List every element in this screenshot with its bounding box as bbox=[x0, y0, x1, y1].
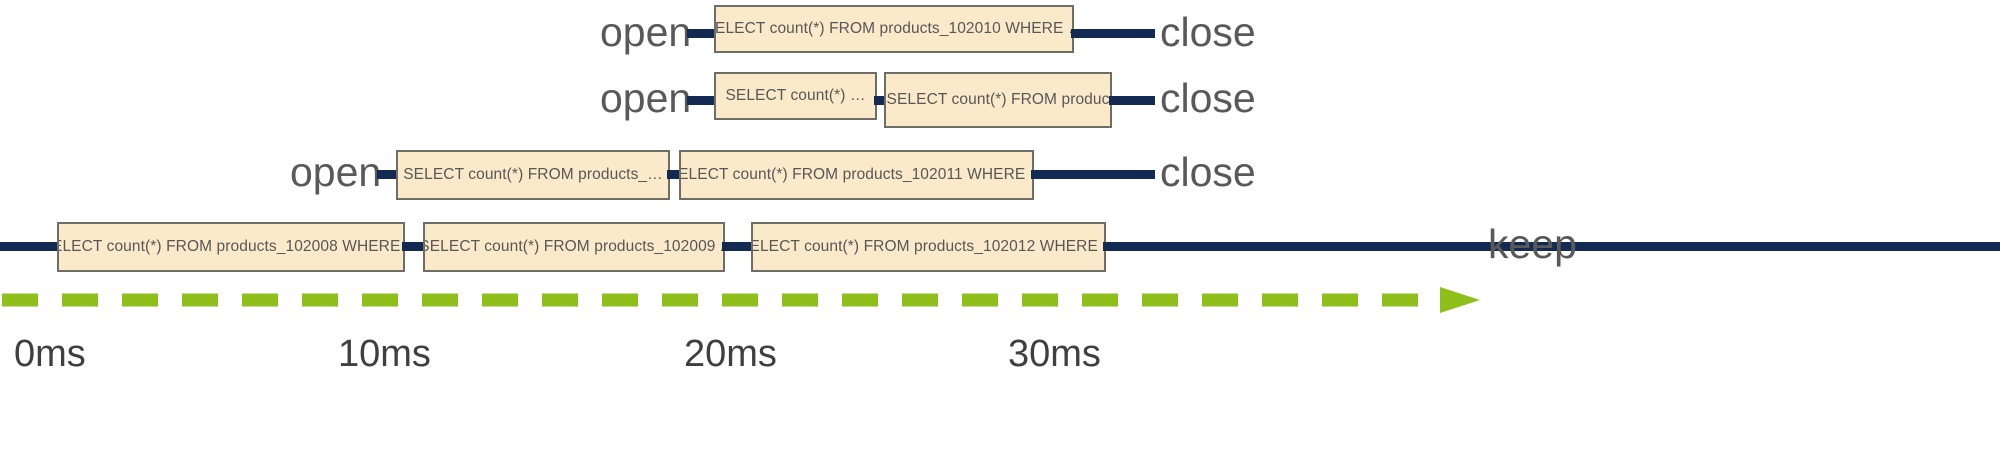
row-3-connector-end bbox=[1031, 170, 1155, 179]
axis-tick-3: 30ms bbox=[1008, 335, 1101, 373]
row-4-query-box-1[interactable]: SELECT count(*) FROM products_102008 WHE… bbox=[57, 222, 405, 272]
row-2-close-label: close bbox=[1160, 78, 1256, 119]
row-2-open-label: open bbox=[600, 78, 691, 119]
timeline-diagram: open SELECT count(*) FROM products_10201… bbox=[0, 0, 2000, 476]
row-2-connector-start bbox=[687, 96, 717, 105]
row-3-query-box-2[interactable]: SELECT count(*) FROM products_102011 WHE… bbox=[679, 150, 1034, 200]
row-3-query-box-1[interactable]: SELECT count(*) FROM products_… bbox=[396, 150, 670, 200]
row-2-query-text-1: SELECT count(*) … bbox=[725, 87, 865, 105]
row-1-open-label: open bbox=[600, 12, 691, 53]
row-2-query-box-1[interactable]: SELECT count(*) … bbox=[714, 72, 877, 120]
row-2-query-box-2[interactable]: SELECT count(*) FROM produc bbox=[884, 72, 1112, 128]
row-3-open-label: open bbox=[290, 152, 381, 193]
row-4-query-text-1: SELECT count(*) FROM products_102008 WHE… bbox=[57, 238, 405, 256]
row-4-query-text-3: SELECT count(*) FROM products_102012 WHE… bbox=[751, 238, 1106, 256]
row-3-close-label: close bbox=[1160, 152, 1256, 193]
row-3-query-text-2: SELECT count(*) FROM products_102011 WHE… bbox=[679, 166, 1034, 184]
row-4-query-text-2: SELECT count(*) FROM products_102009 .. bbox=[423, 238, 725, 256]
row-2-connector-end bbox=[1109, 96, 1155, 105]
row-3-query-text-1: SELECT count(*) FROM products_… bbox=[403, 166, 663, 184]
time-axis-arrow bbox=[0, 286, 2000, 314]
axis-tick-2: 20ms bbox=[684, 335, 777, 373]
row-2-query-text-2: SELECT count(*) FROM produc bbox=[887, 91, 1110, 109]
row-1-close-label: close bbox=[1160, 12, 1256, 53]
row-4-connector-start bbox=[0, 242, 60, 251]
row-4-query-box-3[interactable]: SELECT count(*) FROM products_102012 WHE… bbox=[751, 222, 1106, 272]
row-1-connector-end bbox=[1071, 29, 1155, 38]
row-1-query-box-1[interactable]: SELECT count(*) FROM products_102010 WHE… bbox=[714, 5, 1074, 53]
axis-tick-0: 0ms bbox=[14, 335, 86, 373]
time-axis bbox=[0, 286, 2000, 314]
axis-tick-1: 10ms bbox=[338, 335, 431, 373]
row-4-keep-label: keep bbox=[1488, 224, 1577, 265]
row-4-connector-mid-2 bbox=[722, 242, 754, 251]
row-1-query-text-1: SELECT count(*) FROM products_102010 WHE… bbox=[714, 20, 1074, 38]
row-4-query-box-2[interactable]: SELECT count(*) FROM products_102009 .. bbox=[423, 222, 725, 272]
row-1-connector-start bbox=[687, 29, 717, 38]
